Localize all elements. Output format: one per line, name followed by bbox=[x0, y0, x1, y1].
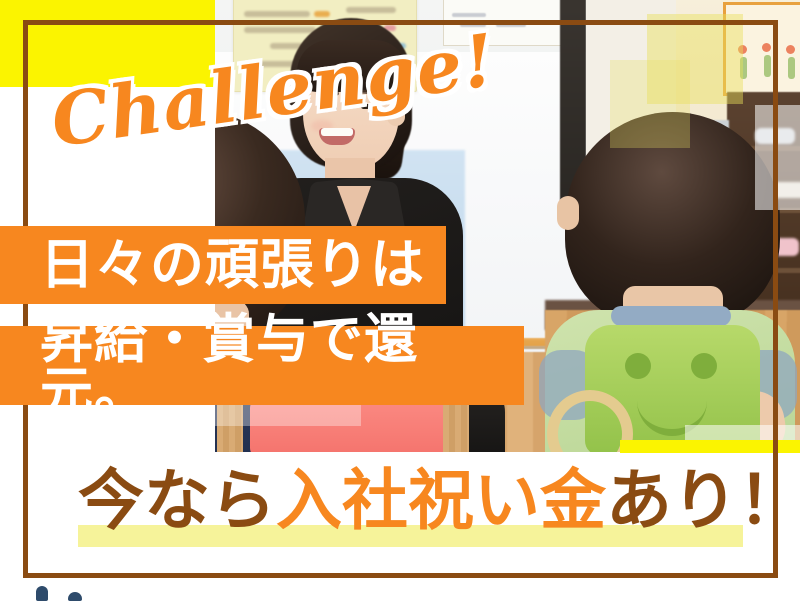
yellow-accent-bar bbox=[620, 440, 800, 453]
photo-overlay-white bbox=[755, 105, 800, 210]
headline-text: 今なら入社祝い金あり！ bbox=[78, 455, 758, 547]
photo-overlay-yellow bbox=[610, 60, 690, 148]
orange-band-1-text: 日々の頑張りは bbox=[0, 238, 425, 292]
partial-logo bbox=[30, 586, 120, 601]
headline-segment-1: 今なら bbox=[78, 462, 276, 539]
banner-root: Challenge! 日々の頑張りは 昇給・賞与で還元。 今なら入社祝い金あり！ bbox=[0, 0, 800, 601]
orange-band-2: 昇給・賞与で還元。 bbox=[0, 326, 524, 405]
orange-band-1: 日々の頑張りは bbox=[0, 226, 446, 304]
photo-child-right-collar bbox=[611, 306, 731, 326]
bottom-headline: 今なら入社祝い金あり！ bbox=[78, 455, 758, 550]
headline-segment-2: 入社祝い金 bbox=[276, 462, 606, 539]
orange-band-2-text: 昇給・賞与で還元。 bbox=[0, 313, 524, 419]
photo-child-right-ear bbox=[557, 196, 579, 230]
headline-segment-3: あり！ bbox=[606, 462, 800, 539]
